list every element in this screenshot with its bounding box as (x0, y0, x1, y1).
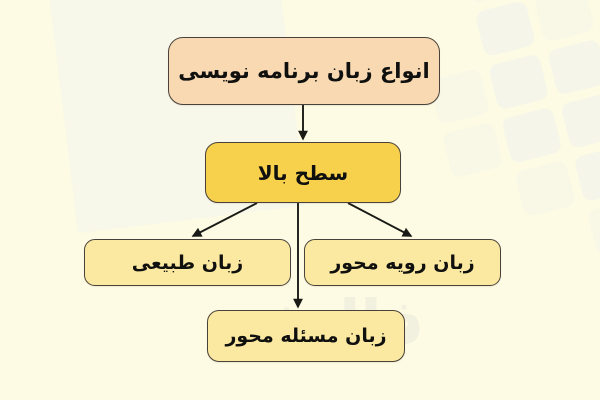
node-high-level-label: سطح بالا (250, 161, 356, 185)
node-root[interactable]: انواع زبان برنامه نویسی (168, 37, 440, 105)
diagram-canvas: فالوژی انواع زبان برنامه نویسی سطح بالا … (0, 0, 600, 400)
flowchart-nodes: انواع زبان برنامه نویسی سطح بالا زبان طب… (0, 0, 600, 400)
node-problem-oriented-language[interactable]: زبان مسئله محور (207, 310, 405, 362)
node-procedural-language-label: زبان رویه محور (322, 252, 482, 274)
node-root-label: انواع زبان برنامه نویسی (170, 59, 438, 83)
node-natural-language[interactable]: زبان طبیعی (84, 239, 291, 286)
node-problem-oriented-language-label: زبان مسئله محور (217, 325, 394, 347)
node-high-level[interactable]: سطح بالا (205, 142, 401, 203)
node-procedural-language[interactable]: زبان رویه محور (304, 239, 501, 286)
node-natural-language-label: زبان طبیعی (124, 252, 251, 274)
